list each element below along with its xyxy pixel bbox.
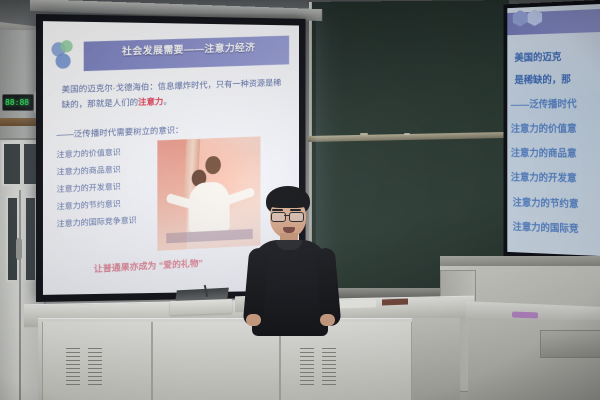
circle-decoration-icon xyxy=(60,40,72,52)
slide-paragraph-part2: 。 xyxy=(164,95,172,105)
secondary-slide-line: 注意力的开发意 xyxy=(511,169,577,185)
led-display: 88:88 xyxy=(2,94,34,111)
secondary-slide-line: ——泛传播时代 xyxy=(511,95,577,110)
slide-paragraph-highlight: 注意力 xyxy=(138,96,163,107)
door-handle[interactable] xyxy=(16,238,22,260)
wall-trim xyxy=(440,256,600,266)
podium-vent xyxy=(322,348,336,386)
secondary-slide-line: 注意力的国际竞 xyxy=(513,218,579,235)
slide-paragraph-part1: 美国的迈克尔·戈德海伯：信息爆炸时代，只有一种资源是稀缺的，那就是人们的 xyxy=(62,77,282,109)
list-item: 注意力的开发意识 xyxy=(56,178,173,194)
photo-person-body xyxy=(189,181,230,232)
circle-decoration-icon xyxy=(55,54,70,69)
photo-person-head xyxy=(205,155,221,174)
secondary-slide-line: 是稀缺的，那 xyxy=(514,70,570,86)
door-window-upper-left xyxy=(2,142,22,186)
chalk-piece xyxy=(360,133,368,135)
laptop-base[interactable] xyxy=(170,299,232,315)
glasses-bridge xyxy=(284,215,289,216)
presenter-eyebrow xyxy=(272,209,283,211)
secondary-slide-line: 注意力的商品意 xyxy=(511,145,577,160)
list-item: 注意力的商品意识 xyxy=(56,161,173,177)
side-desk-panel xyxy=(540,330,600,358)
presenter-hand-left xyxy=(246,314,261,326)
secondary-slide-line: 注意力的节约意 xyxy=(513,194,579,210)
secondary-screen-surface: 美国的迈克 是稀缺的，那 ——泛传播时代 注意力的价值意 注意力的商品意 注意力… xyxy=(507,4,600,256)
list-item: 注意力的节约意识 xyxy=(56,196,173,213)
list-item: 注意力的价值意识 xyxy=(56,144,173,160)
presenter-hair-front xyxy=(267,194,309,208)
podium-side-panel xyxy=(412,318,460,400)
presenter xyxy=(244,186,340,336)
slide-bullet-list: 注意力的价值意识 注意力的商品意识 注意力的开发意识 注意力的节约意识 注意力的… xyxy=(56,144,173,229)
secondary-slide-line: 美国的迈克 xyxy=(514,48,561,64)
marker[interactable] xyxy=(512,312,538,319)
door-center-seam xyxy=(19,190,21,400)
lecture-hall-photo: 88:88 美国的迈克 是稀缺的，那 ——泛传播时代 注意力的价值意 注意力的商… xyxy=(0,0,600,400)
glasses-icon xyxy=(289,212,304,222)
podium-vent xyxy=(66,348,80,386)
secondary-slide-line: 注意力的价值意 xyxy=(511,120,577,135)
book xyxy=(382,299,408,306)
presenter-eyebrow xyxy=(290,209,301,211)
slide-paragraph: 美国的迈克尔·戈德海伯：信息爆炸时代，只有一种资源是稀缺的，那就是人们的注意力。 xyxy=(62,75,286,112)
podium-vent xyxy=(300,348,314,386)
podium-vent xyxy=(88,348,102,386)
chalk-piece xyxy=(404,133,410,135)
secondary-projection-screen: 美国的迈克 是稀缺的，那 ——泛传播时代 注意力的价值意 注意力的商品意 注意力… xyxy=(504,0,600,262)
led-display-text: 88:88 xyxy=(5,99,29,107)
glasses-icon xyxy=(271,212,286,222)
presenter-hand-right xyxy=(320,314,335,326)
list-item: 注意力的国际竞争意识 xyxy=(56,213,173,230)
